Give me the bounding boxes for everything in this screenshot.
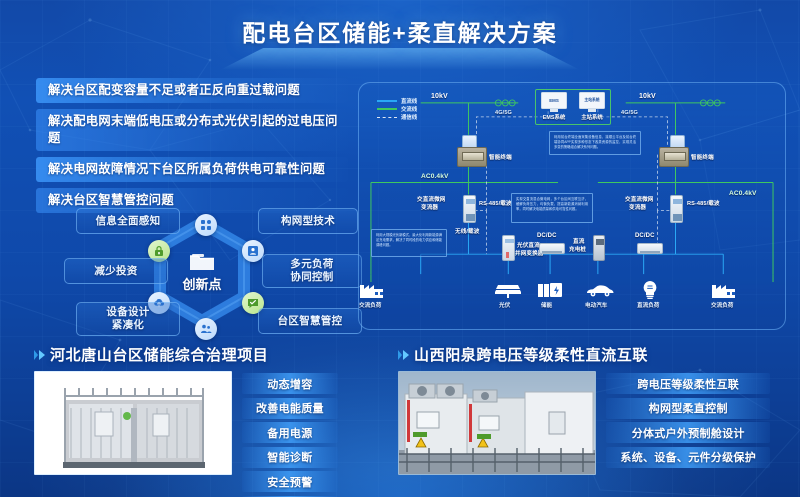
double-arrow-icon bbox=[34, 350, 45, 360]
legend-item-dc: 直流线 bbox=[377, 97, 417, 105]
bullet-item-3: 解决电网故障情况下台区所属负荷供电可靠性问题 bbox=[36, 157, 348, 182]
system-architecture-diagram: 直流线 交流线 通信线 10kV 10kV AC0.4kV AC0.4kV EM… bbox=[358, 82, 786, 330]
slide-title-area: 配电台区储能+柔直解决方案 bbox=[0, 14, 800, 70]
bottom-label-ev: 电动汽车 bbox=[585, 301, 607, 309]
project-tag: 系统、设备、元件分级保护 bbox=[606, 447, 770, 468]
callout-cloud-platform: 利用前台终端全面采集设备信息，接顺云平台及前台终端协同APP实现多种形态下各类资… bbox=[549, 131, 641, 155]
project-header: 山西阳泉跨电压等级柔性直流互联 bbox=[398, 344, 770, 365]
label-ac04kv-right: AC0.4kV bbox=[729, 190, 756, 198]
label-smart-terminal-left: 智能终端 bbox=[489, 155, 512, 163]
bottom-label-pv: 光伏 bbox=[499, 301, 510, 309]
label-dcdc-right: DC/DC bbox=[635, 233, 655, 241]
bullet-item-1: 解决台区配变容量不足或者正反向重过载问题 bbox=[36, 78, 348, 103]
project-tag-list: 跨电压等级柔性互联 构网型柔直控制 分体式户外预制舱设计 系统、设备、元件分级保… bbox=[606, 371, 770, 468]
innovation-chip-multi-load[interactable]: 多元负荷 协同控制 bbox=[262, 254, 362, 288]
page-title: 配电台区储能+柔直解决方案 bbox=[0, 14, 800, 48]
master-monitor: 主站系统 主站系统 bbox=[579, 92, 605, 121]
monitor-stand bbox=[588, 109, 596, 112]
project-card-shanxi: 山西阳泉跨电压等级柔性直流互联 bbox=[398, 344, 770, 475]
chip-line-2: 紧凑化 bbox=[112, 319, 144, 332]
innovation-chip-reduce-investment[interactable]: 减少投资 bbox=[64, 258, 168, 284]
legend-item-comm: 通信线 bbox=[377, 113, 417, 121]
innovation-chip-smart-control[interactable]: 台区智慧管控 bbox=[258, 308, 362, 334]
pv-inverter-icon bbox=[502, 235, 515, 261]
chip-line-1: 设备设计 bbox=[106, 306, 149, 319]
master-screen-label: 主站系统 bbox=[579, 92, 605, 109]
innovation-center-label: 创新点 bbox=[182, 274, 221, 293]
chip-line-1: 多元负荷 bbox=[290, 258, 333, 271]
label-converter-right-1: 交直流微网 bbox=[625, 197, 653, 205]
legend-swatch-dc bbox=[377, 100, 397, 101]
label-4g5g-left: 4G/5G bbox=[495, 110, 512, 118]
dcdc-right-icon bbox=[637, 243, 663, 254]
grid-icon bbox=[195, 214, 217, 236]
ems-caption: EMS系统 bbox=[541, 113, 567, 121]
legend-swatch-ac bbox=[377, 108, 397, 109]
folder-icon bbox=[189, 252, 215, 272]
bullet-item-2: 解决配电网末端低电压或分布式光伏引起的过电压问题 bbox=[36, 109, 348, 151]
label-10kv-right: 10kV bbox=[639, 93, 656, 101]
label-4g5g-right: 4G/5G bbox=[621, 110, 638, 118]
user-card-icon bbox=[242, 240, 264, 262]
label-dcdc-left: DC/DC bbox=[537, 233, 557, 241]
label-smart-terminal-right: 智能终端 bbox=[691, 155, 714, 163]
ems-monitor: EMS EMS系统 bbox=[541, 92, 567, 121]
smart-terminal-right-icon bbox=[659, 147, 689, 167]
innovation-chip-grid-forming[interactable]: 构网型技术 bbox=[258, 208, 358, 234]
legend-swatch-comm bbox=[377, 117, 397, 118]
project-header: 河北唐山台区储能综合治理项目 bbox=[34, 344, 386, 365]
project-photo bbox=[34, 371, 232, 475]
label-wireless-carrier: 无线/载波 bbox=[455, 229, 479, 237]
chip-line-2: 协同控制 bbox=[290, 271, 333, 284]
double-arrow-icon bbox=[398, 350, 409, 360]
diagram-legend: 直流线 交流线 通信线 bbox=[377, 97, 417, 121]
callout-microgrid: 实现交直流混合微电网，多个台区间互联互济，缓解负荷压力，均衡负载，提高新能源消纳… bbox=[511, 193, 593, 223]
ems-screen-label: EMS bbox=[541, 92, 567, 109]
people-icon bbox=[195, 318, 217, 340]
bottom-label-ac-load-left: 交流负荷 bbox=[359, 301, 381, 309]
project-body: 跨电压等级柔性互联 构网型柔直控制 分体式户外预制舱设计 系统、设备、元件分级保… bbox=[398, 371, 770, 475]
project-title: 河北唐山台区储能综合治理项目 bbox=[50, 344, 268, 365]
legend-item-ac: 交流线 bbox=[377, 105, 417, 113]
callout-pv-storage: 利用大规模光伏新模式，最大化利用新能源满足充电需求，解决了同时段的电力供应和储能… bbox=[371, 229, 447, 257]
project-body: 动态增容 改善电能质量 备用电源 智能诊断 安全预警 远程管理 bbox=[34, 371, 386, 497]
label-converter-right-2: 变流器 bbox=[629, 205, 646, 213]
label-rs485-left: RS-485/载波 bbox=[479, 201, 512, 209]
project-tag: 改善电能质量 bbox=[242, 398, 338, 419]
title-plate bbox=[220, 48, 580, 70]
project-title: 山西阳泉跨电压等级柔性直流互联 bbox=[414, 344, 648, 365]
project-photo-graphic bbox=[399, 372, 596, 475]
project-tag-list: 动态增容 改善电能质量 备用电源 智能诊断 安全预警 远程管理 bbox=[242, 371, 338, 497]
label-rs485-right: RS-485/载波 bbox=[687, 201, 720, 209]
label-10kv-left: 10kV bbox=[431, 93, 448, 101]
bottom-label-ac-load-right: 交流负荷 bbox=[711, 301, 733, 309]
legend-label-comm: 通信线 bbox=[401, 113, 417, 121]
innovation-chip-compact-design[interactable]: 设备设计 紧凑化 bbox=[76, 302, 180, 336]
dc-charging-pile-icon bbox=[593, 235, 605, 261]
smart-terminal-left-icon bbox=[457, 147, 487, 167]
project-tag: 备用电源 bbox=[242, 422, 338, 443]
project-tag: 跨电压等级柔性互联 bbox=[606, 373, 770, 394]
bottom-label-storage: 储能 bbox=[541, 301, 552, 309]
label-ac04kv-left: AC0.4kV bbox=[421, 173, 448, 181]
legend-label-dc: 直流线 bbox=[401, 97, 417, 105]
innovation-chip-info-sensing[interactable]: 信息全面感知 bbox=[76, 208, 180, 234]
label-converter-left-1: 交直流微网 bbox=[417, 197, 445, 205]
master-caption: 主站系统 bbox=[579, 113, 605, 121]
project-tag: 分体式户外预制舱设计 bbox=[606, 422, 770, 443]
microgrid-converter-left-icon bbox=[463, 195, 476, 223]
dcdc-left-icon bbox=[539, 243, 565, 254]
label-charger-1: 直流 bbox=[573, 239, 584, 247]
project-tag: 动态增容 bbox=[242, 373, 338, 394]
project-tag: 安全预警 bbox=[242, 471, 338, 492]
label-pv-inverter-1: 光伏直流 bbox=[517, 243, 540, 251]
slide-root: 配电台区储能+柔直解决方案 解决台区配变容量不足或者正反向重过载问题 解决配电网… bbox=[0, 0, 800, 497]
label-charger-2: 充电桩 bbox=[569, 247, 586, 255]
label-converter-left-2: 变流器 bbox=[421, 205, 438, 213]
bottom-label-dc-load: 直流负荷 bbox=[637, 301, 659, 309]
project-tag: 智能诊断 bbox=[242, 447, 338, 468]
project-card-hebei: 河北唐山台区储能综合治理项目 bbox=[34, 344, 386, 497]
microgrid-converter-right-icon bbox=[670, 195, 683, 223]
project-photo-graphic bbox=[35, 372, 232, 475]
innovation-diagram: 创新点 信息全面感知 构网型技术 减少投资 多元负荷 协同控制 设备设计 bbox=[62, 202, 362, 342]
project-tag: 构网型柔直控制 bbox=[606, 398, 770, 419]
project-photo bbox=[398, 371, 596, 475]
monitor-stand bbox=[550, 109, 558, 112]
legend-label-ac: 交流线 bbox=[401, 105, 417, 113]
problem-bullet-list: 解决台区配变容量不足或者正反向重过载问题 解决配电网末端低电压或分布式光伏引起的… bbox=[36, 78, 348, 219]
